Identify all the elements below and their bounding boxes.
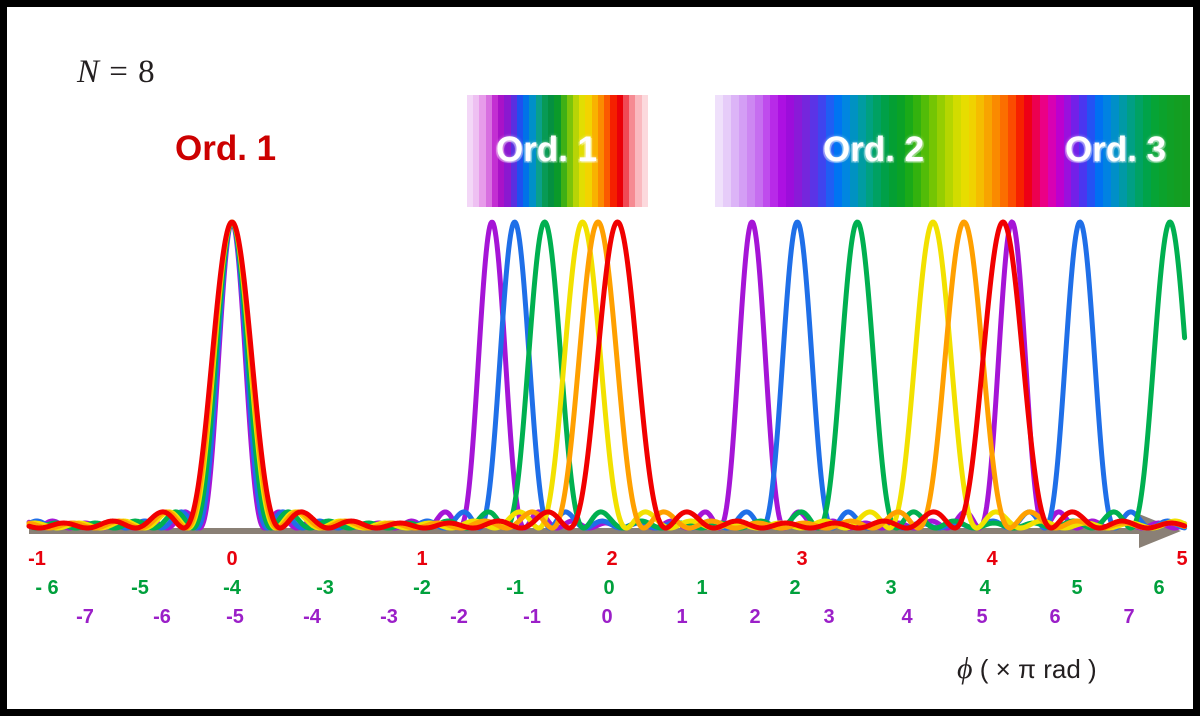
spectrum-band (937, 95, 945, 207)
zero-order-annotation: Ord. 1 (175, 129, 276, 169)
tick-label: -2 (413, 577, 431, 600)
spectrum-band (723, 95, 731, 207)
spectrum-band (802, 95, 810, 207)
spectrum-band (929, 95, 937, 207)
phase-units: ( × π rad ) (973, 654, 1097, 684)
tick-label: -1 (28, 548, 46, 571)
tick-label: 5 (976, 606, 987, 629)
spectrum-band (969, 95, 977, 207)
spectrum-label-order-3: Ord. 3 (1065, 130, 1166, 170)
spectrum-band (992, 95, 1000, 207)
tick-label: 1 (696, 577, 707, 600)
spectrum-band (1040, 95, 1048, 207)
tick-label: 1 (416, 548, 427, 571)
tick-label: -5 (131, 577, 149, 600)
tick-label: 4 (901, 606, 912, 629)
spectrum-band (786, 95, 794, 207)
spectrum-label-order-2: Ord. 2 (823, 130, 924, 170)
spectrum-band (976, 95, 984, 207)
tick-label: 2 (789, 577, 800, 600)
tick-label: 0 (601, 606, 612, 629)
tick-label: -5 (226, 606, 244, 629)
figure-canvas: N = 8 Ord. 1 Ord. 1 Ord. 2 Ord. 3 -10123… (0, 0, 1200, 716)
spectrum-band (945, 95, 953, 207)
spectrum-band (1008, 95, 1016, 207)
tick-label: 7 (1123, 606, 1134, 629)
tick-label: -1 (523, 606, 541, 629)
spectrum-band (1032, 95, 1040, 207)
tick-label: 5 (1176, 548, 1187, 571)
spectrum-band (794, 95, 802, 207)
tick-label: -4 (303, 606, 321, 629)
tick-label: 4 (979, 577, 990, 600)
spectrum-band (778, 95, 786, 207)
spectrum-band (755, 95, 763, 207)
tick-label: -3 (380, 606, 398, 629)
spectrum-band (763, 95, 771, 207)
spectrum-band (1000, 95, 1008, 207)
tick-label: 6 (1153, 577, 1164, 600)
spectrum-band (731, 95, 739, 207)
phase-symbol: ϕ (957, 652, 973, 685)
spectrum-band (1056, 95, 1064, 207)
spectrum-band (747, 95, 755, 207)
x-axis-title: ϕ ( × π rad ) (957, 652, 1097, 686)
spectrum-band (1048, 95, 1056, 207)
spectrum-band (642, 95, 648, 207)
tick-label: -7 (76, 606, 94, 629)
tick-label: 3 (796, 548, 807, 571)
spectrum-band (1167, 95, 1175, 207)
tick-label: 4 (986, 548, 997, 571)
tick-label: 5 (1071, 577, 1082, 600)
spectrum-band (1016, 95, 1024, 207)
spectrum-band (715, 95, 723, 207)
spectrum-band (739, 95, 747, 207)
tick-label: 2 (749, 606, 760, 629)
tick-label: 2 (606, 548, 617, 571)
tick-label: -4 (223, 577, 241, 600)
spectrum-band (1174, 95, 1182, 207)
tick-label: 3 (885, 577, 896, 600)
tick-label: -2 (450, 606, 468, 629)
spectrum-label-order-1: Ord. 1 (496, 130, 597, 170)
spectrum-band (810, 95, 818, 207)
tick-label: 1 (676, 606, 687, 629)
spectrum-band (961, 95, 969, 207)
tick-label: - 6 (35, 577, 58, 600)
tick-label: 0 (603, 577, 614, 600)
spectrum-band (1024, 95, 1032, 207)
tick-label: -6 (153, 606, 171, 629)
tick-label: 6 (1049, 606, 1060, 629)
tick-label: -3 (316, 577, 334, 600)
spectrum-band (953, 95, 961, 207)
slit-count-symbol: N (77, 54, 100, 90)
spectrum-band (984, 95, 992, 207)
slit-count-label: N = 8 (77, 54, 156, 91)
spectrum-band (770, 95, 778, 207)
tick-label: 3 (823, 606, 834, 629)
tick-label: 0 (226, 548, 237, 571)
slit-count-value: = 8 (100, 54, 156, 90)
spectrum-band (1182, 95, 1190, 207)
tick-label: -1 (506, 577, 524, 600)
